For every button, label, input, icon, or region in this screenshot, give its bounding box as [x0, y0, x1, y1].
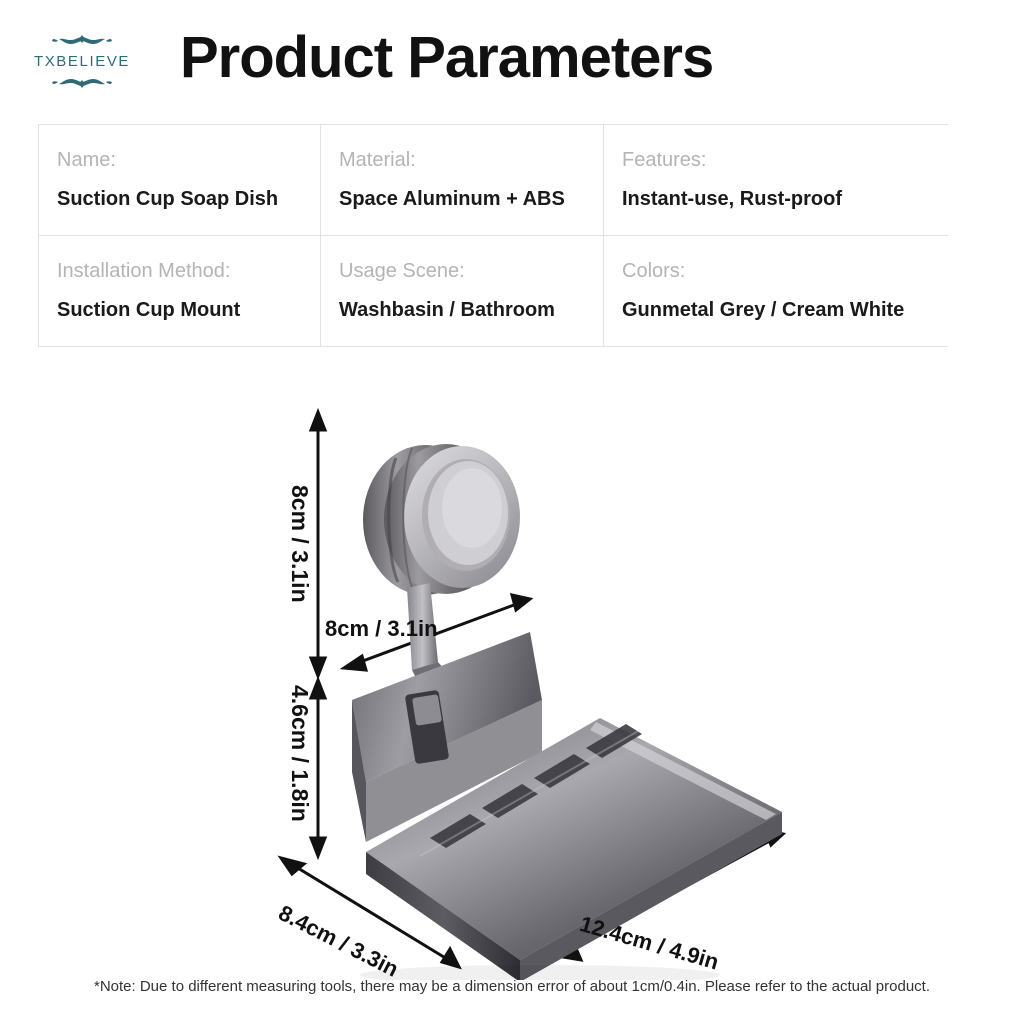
- parameter-label: Features:: [622, 149, 948, 172]
- floral-ornament-icon: [47, 35, 117, 51]
- footer-note: *Note: Due to different measuring tools,…: [0, 978, 1024, 995]
- page-title: Product Parameters: [180, 24, 713, 91]
- brand-name: TXBELIEVE: [34, 53, 130, 70]
- brand-logo: TXBELIEVE: [18, 22, 146, 100]
- parameter-cell-installation-method: Installation Method: Suction Cup Mount: [38, 236, 320, 347]
- parameters-row: Name: Suction Cup Soap Dish Material: Sp…: [38, 124, 948, 236]
- parameter-value: Space Aluminum + ABS: [339, 188, 603, 211]
- product-render-svg: [0, 400, 1024, 980]
- parameter-label: Material:: [339, 149, 603, 172]
- parameter-label: Installation Method:: [57, 260, 320, 283]
- dimension-arrow-height-lower: [311, 680, 325, 856]
- parameter-value: Instant-use, Rust-proof: [622, 188, 948, 211]
- page-header: TXBELIEVE Product Parameters: [0, 0, 1024, 118]
- parameter-label: Colors:: [622, 260, 948, 283]
- dimension-label-height-total: 8cm / 3.1in: [286, 485, 313, 603]
- parameter-value: Gunmetal Grey / Cream White: [622, 299, 948, 322]
- dimension-arrow-height-total: [311, 412, 325, 676]
- parameter-value: Suction Cup Soap Dish: [57, 188, 320, 211]
- product-parameters-page: TXBELIEVE Product Parameters Name: Sucti…: [0, 0, 1024, 1024]
- parameters-table: Name: Suction Cup Soap Dish Material: Sp…: [38, 124, 948, 347]
- parameter-cell-colors: Colors: Gunmetal Grey / Cream White: [603, 236, 948, 347]
- parameter-cell-features: Features: Instant-use, Rust-proof: [603, 124, 948, 236]
- parameter-label: Name:: [57, 149, 320, 172]
- parameter-label: Usage Scene:: [339, 260, 603, 283]
- floral-ornament-icon-bottom: [47, 72, 117, 88]
- product-illustration: 8cm / 3.1in 4.6cm / 1.8in 8cm / 3.1in 12…: [0, 400, 1024, 980]
- dimension-label-height-lower: 4.6cm / 1.8in: [286, 685, 313, 822]
- suction-cup: [363, 444, 520, 595]
- parameters-row: Installation Method: Suction Cup Mount U…: [38, 236, 948, 347]
- parameter-value: Suction Cup Mount: [57, 299, 320, 322]
- parameter-cell-usage-scene: Usage Scene: Washbasin / Bathroom: [320, 236, 603, 347]
- parameter-cell-name: Name: Suction Cup Soap Dish: [38, 124, 320, 236]
- parameter-cell-material: Material: Space Aluminum + ABS: [320, 124, 603, 236]
- dimension-label-depth-top: 8cm / 3.1in: [325, 616, 438, 642]
- parameter-value: Washbasin / Bathroom: [339, 299, 603, 322]
